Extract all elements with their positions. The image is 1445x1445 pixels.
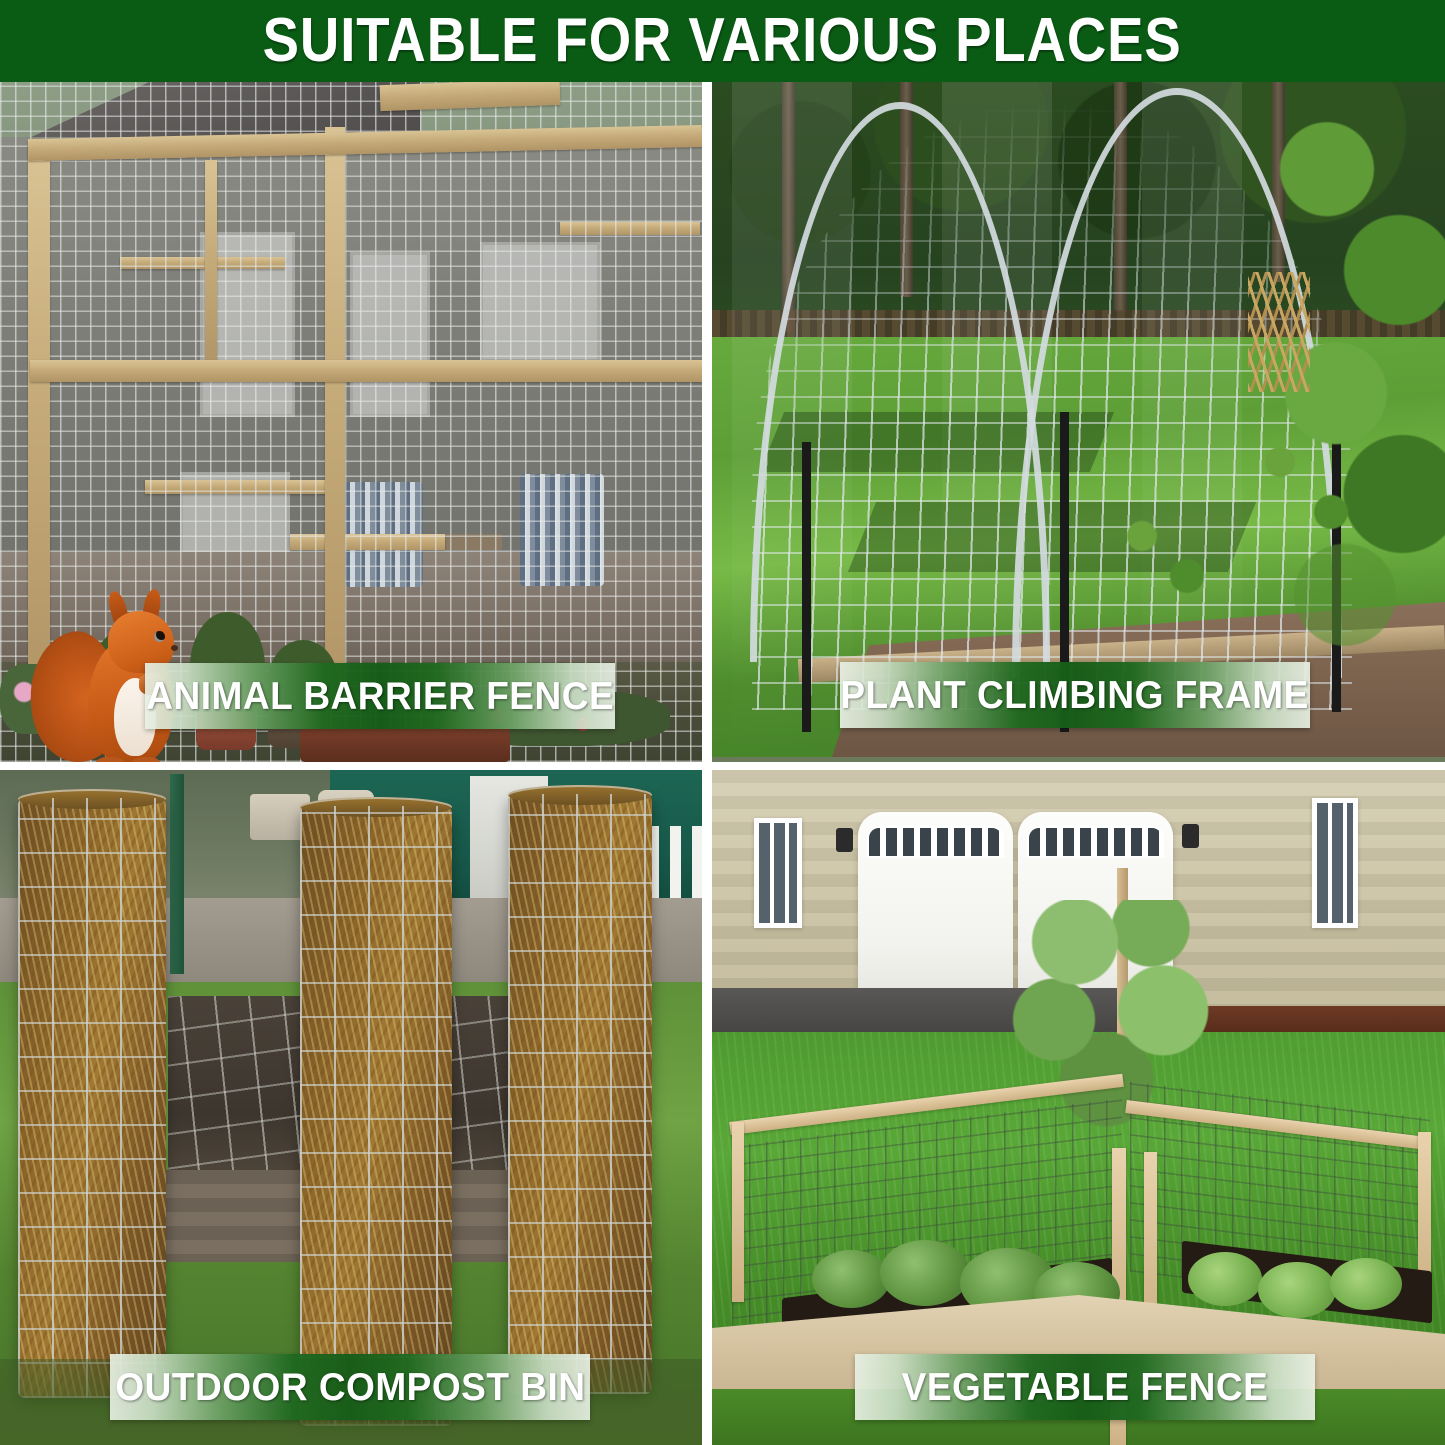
caption-text: PLANT CLIMBING FRAME — [841, 676, 1309, 715]
compost-tower-right — [508, 794, 652, 1394]
panel-plant-climbing-frame: PLANT CLIMBING FRAME — [712, 82, 1445, 762]
panel-outdoor-compost-bin: OUTDOOR COMPOST BIN — [0, 770, 702, 1445]
caption-text: ANIMAL BARRIER FENCE — [146, 677, 614, 716]
caption-outdoor-compost-bin: OUTDOOR COMPOST BIN — [110, 1354, 590, 1420]
caption-text: VEGETABLE FENCE — [902, 1368, 1269, 1407]
panel-animal-barrier-fence: ANIMAL BARRIER FENCE — [0, 82, 702, 762]
photo-outdoor-compost-bin — [0, 770, 702, 1445]
header-banner: SUITABLE FOR VARIOUS PLACES — [0, 0, 1445, 82]
photo-plant-climbing-frame — [712, 82, 1445, 762]
photo-vegetable-fence — [712, 770, 1445, 1445]
page-title: SUITABLE FOR VARIOUS PLACES — [263, 10, 1182, 72]
caption-plant-climbing-frame: PLANT CLIMBING FRAME — [840, 662, 1310, 728]
compost-tower-left — [18, 798, 166, 1398]
photo-animal-barrier-fence — [0, 82, 702, 762]
caption-text: OUTDOOR COMPOST BIN — [115, 1368, 585, 1407]
caption-animal-barrier-fence: ANIMAL BARRIER FENCE — [145, 663, 615, 729]
panel-vegetable-fence: VEGETABLE FENCE — [712, 770, 1445, 1445]
panel-grid: ANIMAL BARRIER FENCE — [0, 82, 1445, 1445]
compost-tower-middle — [300, 806, 452, 1426]
caption-vegetable-fence: VEGETABLE FENCE — [855, 1354, 1315, 1420]
infographic-page: SUITABLE FOR VARIOUS PLACES — [0, 0, 1445, 1445]
